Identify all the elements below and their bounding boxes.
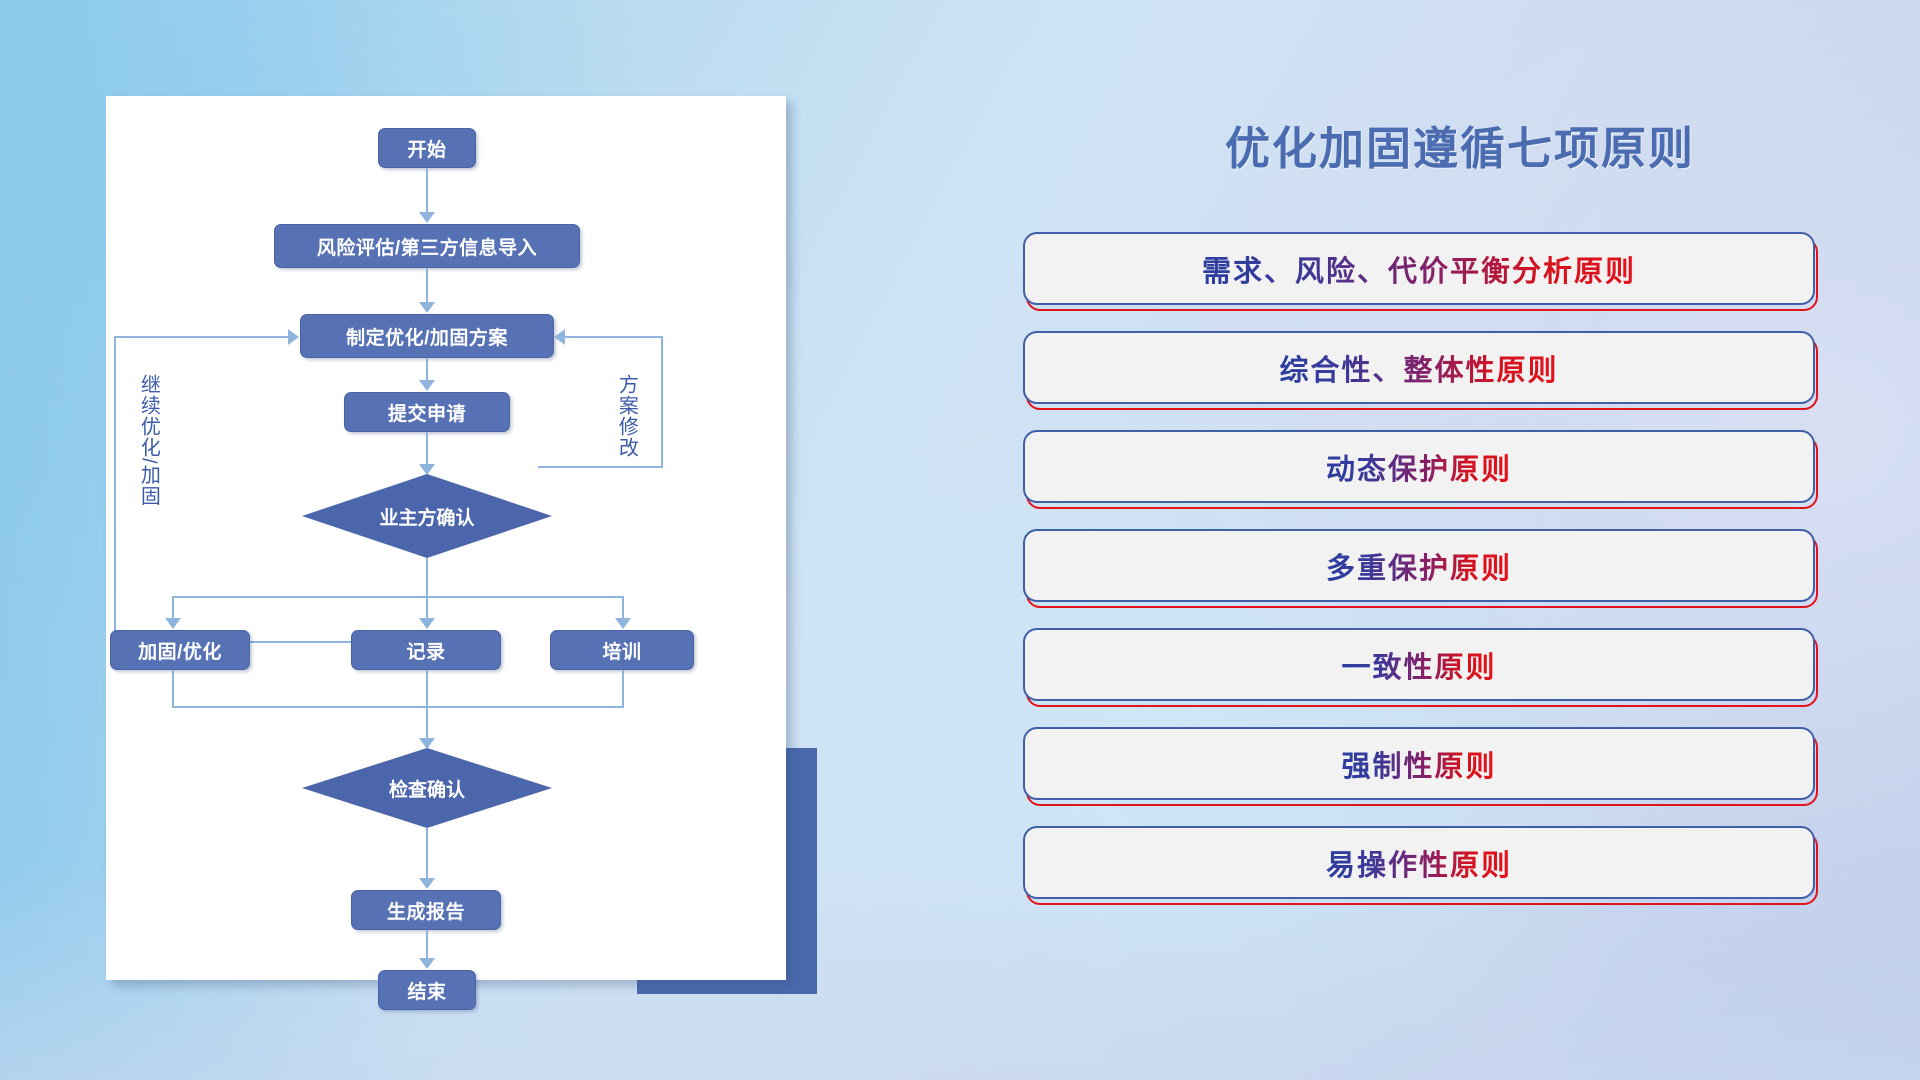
merge-bus <box>172 706 624 708</box>
principle-card[interactable]: 需求、风险、代价平衡分析原则 <box>1023 232 1823 307</box>
principle-card[interactable]: 综合性、整体性原则 <box>1023 331 1823 406</box>
card-blue-outline: 需求、风险、代价平衡分析原则 <box>1023 232 1815 305</box>
card-blue-outline: 一致性原则 <box>1023 628 1815 701</box>
flow-decision-inspect-confirm-label: 检查确认 <box>389 775 465 802</box>
principle-card[interactable]: 易操作性原则 <box>1023 826 1823 901</box>
edge-inspect-to-report <box>426 828 428 882</box>
arrowhead-branch-to-training <box>615 618 631 629</box>
branch-bus-top <box>172 596 624 598</box>
flow-node-training[interactable]: 培训 <box>550 630 694 670</box>
flowchart-card: 开始 风险评估/第三方信息导入 制定优化/加固方案 继续优化/加固 方案修改 提… <box>106 96 786 980</box>
flow-node-risk-assessment[interactable]: 风险评估/第三方信息导入 <box>274 224 580 268</box>
principle-label: 多重保护原则 <box>1326 545 1512 587</box>
flow-node-record[interactable]: 记录 <box>351 630 501 670</box>
card-blue-outline: 综合性、整体性原则 <box>1023 331 1815 404</box>
flow-decision-owner-confirm[interactable]: 业主方确认 <box>302 474 552 558</box>
flow-node-make-plan[interactable]: 制定优化/加固方案 <box>300 314 554 358</box>
principle-card[interactable]: 多重保护原则 <box>1023 529 1823 604</box>
principle-label: 易操作性原则 <box>1326 842 1512 884</box>
flow-node-start[interactable]: 开始 <box>378 128 476 168</box>
edge-reinforce-to-merge <box>172 670 174 708</box>
principle-label: 强制性原则 <box>1341 743 1496 785</box>
flow-node-submit-application[interactable]: 提交申请 <box>344 392 510 432</box>
flow-decision-owner-confirm-label: 业主方确认 <box>379 503 474 530</box>
edge-merge-to-inspect <box>426 670 428 742</box>
edge-label-right-loop: 方案修改 <box>616 374 636 458</box>
edge-left-loop-vertical <box>114 336 116 643</box>
arrowhead-left-loop-into-plan <box>288 329 299 345</box>
edge-submit-to-owner <box>426 432 428 468</box>
edge-right-loop-vertical <box>661 336 663 468</box>
principle-label: 一致性原则 <box>1341 644 1496 686</box>
principle-card[interactable]: 动态保护原则 <box>1023 430 1823 505</box>
arrowhead-report-to-end <box>419 958 435 969</box>
page-title: 优化加固遵循七项原则 <box>1000 112 1920 177</box>
flow-decision-inspect-confirm[interactable]: 检查确认 <box>302 748 552 828</box>
arrowhead-risk-to-plan <box>419 302 435 313</box>
principle-label: 需求、风险、代价平衡分析原则 <box>1202 248 1636 290</box>
edge-label-left-loop: 继续优化/加固 <box>138 374 158 507</box>
edge-right-loop-bottom <box>538 466 663 468</box>
arrowhead-inspect-to-report <box>419 878 435 889</box>
arrowhead-start-to-risk <box>419 212 435 223</box>
edge-risk-to-plan <box>426 268 428 306</box>
principles-list: 需求、风险、代价平衡分析原则 综合性、整体性原则 动态保护原则 多重保护原则 一 <box>1023 232 1823 925</box>
edge-owner-to-branch-bus <box>426 558 428 598</box>
edge-training-to-merge <box>622 670 624 708</box>
arrowhead-plan-to-submit <box>419 380 435 391</box>
flow-node-generate-report[interactable]: 生成报告 <box>351 890 501 930</box>
flow-node-end[interactable]: 结束 <box>378 970 476 1010</box>
card-blue-outline: 动态保护原则 <box>1023 430 1815 503</box>
principles-panel: 优化加固遵循七项原则 需求、风险、代价平衡分析原则 综合性、整体性原则 动态保护… <box>1000 0 1920 1080</box>
arrowhead-branch-to-record <box>419 618 435 629</box>
flow-node-reinforce-optimize[interactable]: 加固/优化 <box>110 630 250 670</box>
edge-right-loop-top <box>565 336 663 338</box>
edge-start-to-risk <box>426 168 428 216</box>
card-blue-outline: 强制性原则 <box>1023 727 1815 800</box>
arrowhead-right-loop-into-plan <box>554 329 565 345</box>
arrowhead-branch-to-reinforce <box>165 618 181 629</box>
principle-card[interactable]: 强制性原则 <box>1023 727 1823 802</box>
card-blue-outline: 易操作性原则 <box>1023 826 1815 899</box>
card-blue-outline: 多重保护原则 <box>1023 529 1815 602</box>
principle-card[interactable]: 一致性原则 <box>1023 628 1823 703</box>
edge-left-loop-top <box>114 336 289 338</box>
principle-label: 动态保护原则 <box>1326 446 1512 488</box>
principle-label: 综合性、整体性原则 <box>1279 347 1558 389</box>
